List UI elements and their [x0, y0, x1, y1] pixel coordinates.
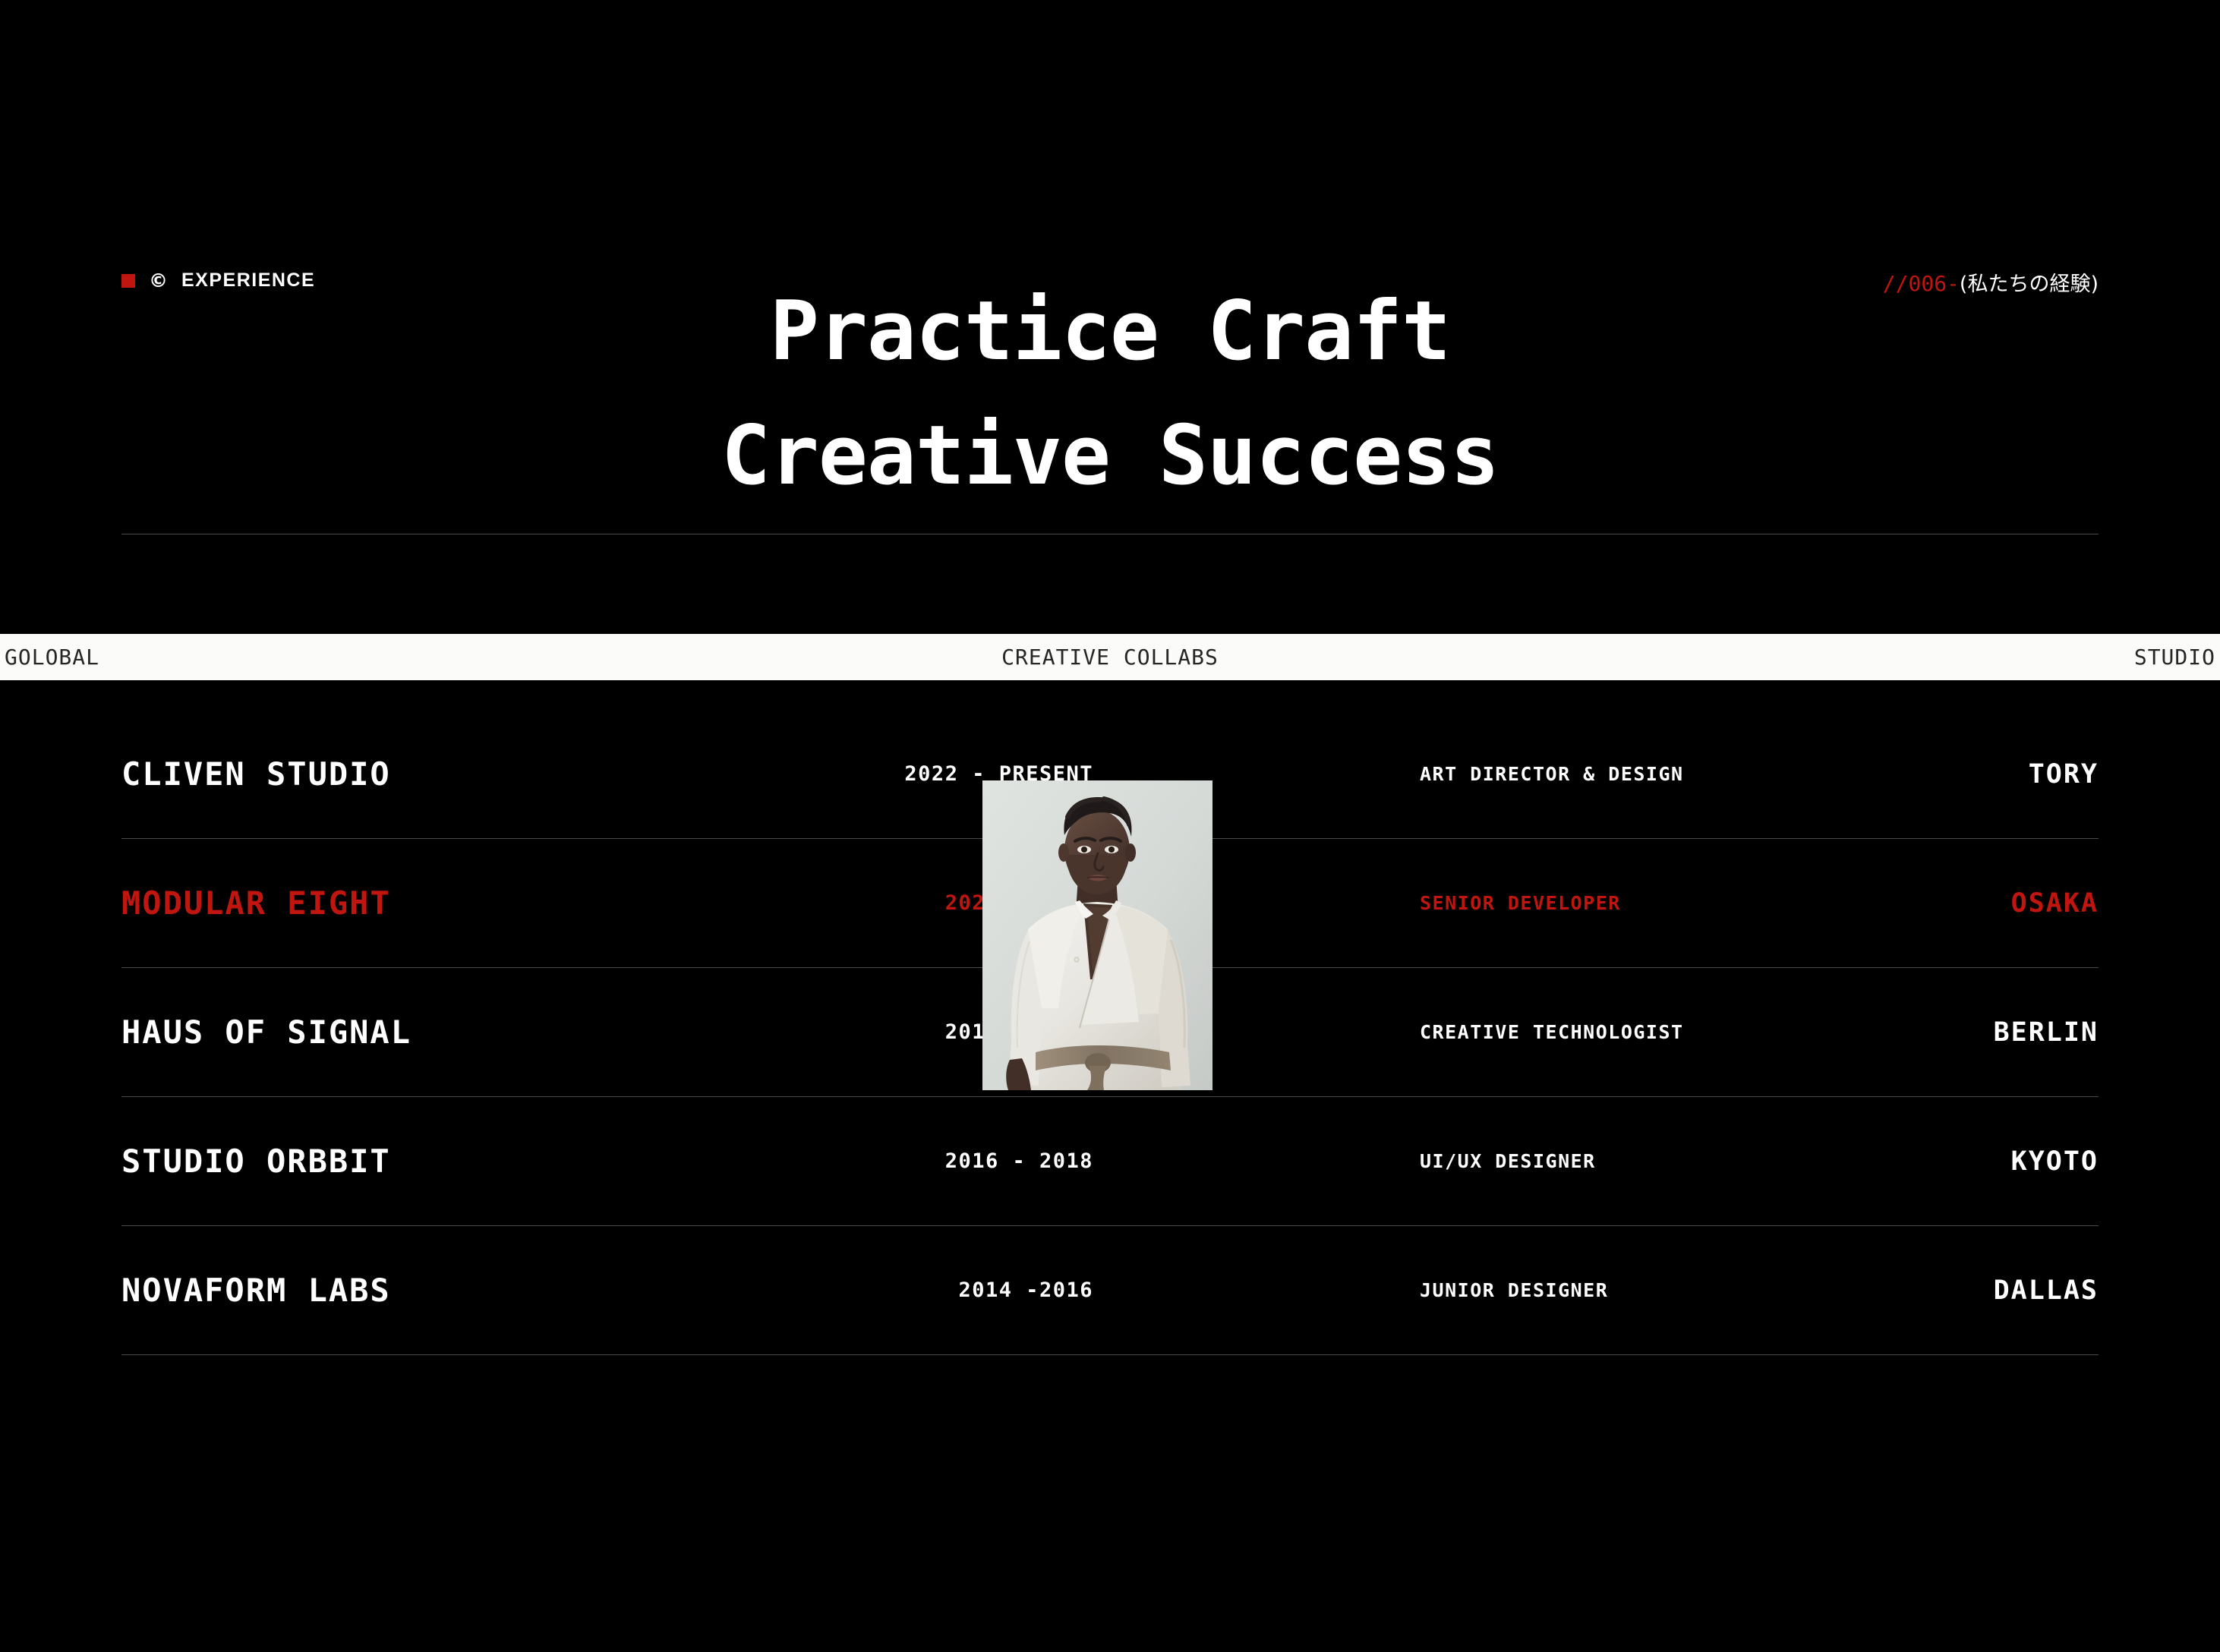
- row-city: BERLIN: [1994, 1017, 2099, 1048]
- section-index: //006-(私たちの経験): [1883, 267, 2099, 297]
- row-company: NOVAFORM LABS: [121, 1272, 774, 1309]
- page-title-line-2: Creative Success: [0, 394, 2220, 519]
- row-years: 2016 - 2018: [774, 1149, 1093, 1173]
- marquee-item-collabs: CREATIVE COLLABS: [1001, 645, 1219, 670]
- row-company: HAUS OF SIGNAL: [121, 1014, 774, 1051]
- row-role: JUNIOR DESIGNER: [1420, 1279, 1994, 1301]
- portrait-thumbnail[interactable]: [982, 780, 1212, 1090]
- section-index-number: //006-: [1883, 271, 1960, 296]
- row-city: KYOTO: [2011, 1146, 2099, 1177]
- table-row[interactable]: NOVAFORM LABS 2014 -2016 JUNIOR DESIGNER…: [121, 1226, 2099, 1355]
- marquee-item-studio: STUDIO: [2134, 645, 2215, 670]
- row-city: DALLAS: [1994, 1275, 2099, 1306]
- marquee-bar: GOLOBAL CREATIVE COLLABS STUDIO: [0, 634, 2220, 680]
- marquee-item-global: GOLOBAL: [5, 645, 99, 670]
- row-role: ART DIRECTOR & DESIGN: [1420, 763, 2029, 785]
- row-city: OSAKA: [2011, 888, 2099, 919]
- table-row[interactable]: STUDIO ORBBIT 2016 - 2018 UI/UX DESIGNER…: [121, 1097, 2099, 1226]
- row-company: MODULAR EIGHT: [121, 884, 774, 922]
- row-role: SENIOR DEVELOPER: [1420, 892, 2011, 914]
- section-index-japanese: (私たちの経験): [1960, 273, 2099, 296]
- experience-page: © EXPERIENCE Practice Craft Creative Suc…: [0, 0, 2220, 1652]
- row-city: TORY: [2029, 759, 2099, 790]
- row-role: CREATIVE TECHNOLOGIST: [1420, 1021, 1994, 1043]
- row-years: 2014 -2016: [774, 1278, 1093, 1302]
- hero-divider: [121, 534, 2099, 534]
- row-company: STUDIO ORBBIT: [121, 1143, 774, 1180]
- row-role: UI/UX DESIGNER: [1420, 1150, 2011, 1172]
- row-company: CLIVEN STUDIO: [121, 755, 774, 793]
- page-title: Practice Craft Creative Success: [0, 270, 2220, 519]
- hero-section: © EXPERIENCE Practice Craft Creative Suc…: [0, 0, 2220, 634]
- portrait-photo: [982, 780, 1212, 1090]
